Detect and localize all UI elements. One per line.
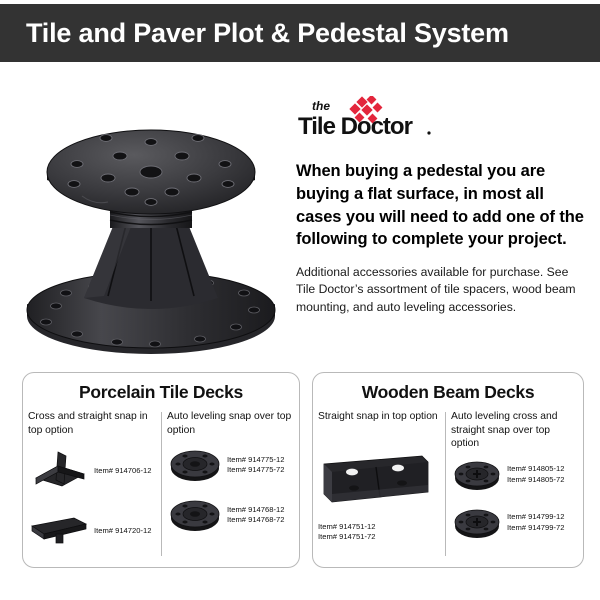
- panel-wooden-beam-decks: Wooden Beam Decks Straight snap in top o…: [312, 372, 584, 568]
- page-title: Tile and Paver Plot & Pedestal System: [0, 18, 509, 49]
- panel-column-cross-straight-snap: Cross and straight snap in top option: [23, 410, 161, 560]
- auto-leveling-disc-icon: [451, 503, 503, 543]
- product-codes: Item# 914720-12: [94, 526, 151, 536]
- tile-doctor-logo: the Tile Doctor: [296, 96, 446, 148]
- item-code: Item# 914775-72: [227, 465, 284, 475]
- right-content-column: the Tile Doctor When buying a pedestal y…: [296, 96, 586, 316]
- item-code: Item# 914720-12: [94, 526, 151, 536]
- product-codes: Item# 914805-12 Item# 914805-72: [507, 464, 564, 485]
- product-row: Item# 914706-12: [28, 448, 156, 494]
- column-heading: Auto leveling snap over top option: [167, 410, 294, 438]
- column-heading: Auto leveling cross and straight snap ov…: [451, 410, 578, 451]
- tile-doctor-logo-mark: the Tile Doctor: [296, 96, 446, 148]
- product-row: Item# 914775-12 Item# 914775-72: [167, 444, 294, 486]
- pedestal-product-image: [22, 84, 280, 356]
- logo-name-text: Tile Doctor: [298, 113, 413, 140]
- product-row: Item# 914805-12 Item# 914805-72: [451, 455, 578, 495]
- product-codes: Item# 914775-12 Item# 914775-72: [227, 455, 284, 476]
- product-codes: Item# 914768-12 Item# 914768-72: [227, 505, 284, 526]
- logo-trademark-dot: [427, 131, 430, 134]
- auto-leveling-disc-icon: [167, 494, 223, 536]
- auto-leveling-disc-icon: [167, 444, 223, 486]
- item-code: Item# 914775-12: [227, 455, 284, 465]
- item-code: Item# 914706-12: [94, 466, 151, 476]
- panel-porcelain-tile-decks: Porcelain Tile Decks Cross and straight …: [22, 372, 300, 568]
- cross-spacer-icon: [28, 448, 90, 494]
- panel-column-auto-leveling-snap: Auto leveling snap over top option: [162, 410, 299, 560]
- header-band: Tile and Paver Plot & Pedestal System: [0, 4, 600, 62]
- panel-title: Porcelain Tile Decks: [23, 382, 299, 403]
- wood-beam-bracket-icon: [318, 450, 440, 508]
- infographic-page: Tile and Paver Plot & Pedestal System: [0, 0, 600, 600]
- item-code: Item# 914768-72: [227, 515, 284, 525]
- logo-the-text: the: [312, 99, 330, 113]
- column-heading: Cross and straight snap in top option: [28, 410, 156, 438]
- product-codes: Item# 914799-12 Item# 914799-72: [507, 512, 564, 533]
- product-codes: Item# 914706-12: [94, 466, 151, 476]
- panel-title: Wooden Beam Decks: [313, 382, 583, 403]
- item-code: Item# 914799-72: [507, 523, 564, 533]
- item-code: Item# 914751-72: [318, 532, 440, 542]
- product-row: Item# 914768-12 Item# 914768-72: [167, 494, 294, 536]
- item-code: Item# 914805-12: [507, 464, 564, 474]
- product-codes: Item# 914751-12 Item# 914751-72: [318, 522, 440, 543]
- straight-spacer-icon: [28, 514, 90, 548]
- panel-column-auto-leveling-cross-straight: Auto leveling cross and straight snap ov…: [446, 410, 583, 560]
- item-code: Item# 914768-12: [227, 505, 284, 515]
- auto-leveling-disc-icon: [451, 455, 503, 495]
- item-code: Item# 914751-12: [318, 522, 440, 532]
- intro-paragraph: Additional accessories available for pur…: [296, 264, 586, 316]
- column-heading: Straight snap in top option: [318, 410, 440, 438]
- product-row: Item# 914720-12: [28, 514, 156, 548]
- item-code: Item# 914805-72: [507, 475, 564, 485]
- panel-column-straight-snap-in: Straight snap in top option: [313, 410, 445, 560]
- intro-headline: When buying a pedestal you are buying a …: [296, 160, 586, 251]
- product-row: Item# 914799-12 Item# 914799-72: [451, 503, 578, 543]
- item-code: Item# 914799-12: [507, 512, 564, 522]
- product-row: Item# 914751-12 Item# 914751-72: [318, 450, 440, 543]
- pedestal-illustration: [22, 84, 280, 356]
